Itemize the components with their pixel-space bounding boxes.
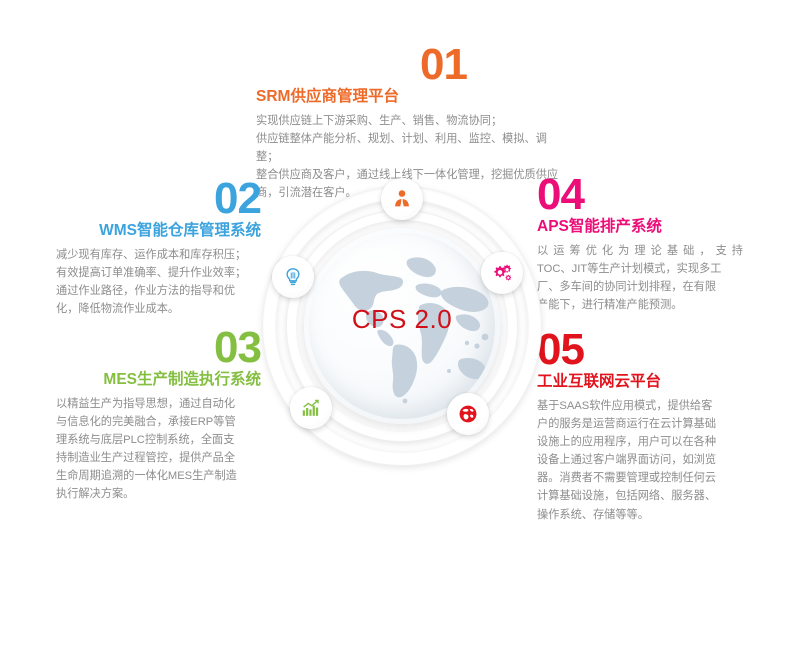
person-icon	[391, 188, 413, 210]
body-line: 设施上的应用程序，用户可以在各种	[537, 433, 743, 451]
body-line: 厂、多车间的协同计划排程，在有限	[537, 278, 743, 296]
icon-bubble-bar-chart[interactable]	[290, 387, 332, 429]
icon-bubble-globe[interactable]	[447, 393, 489, 435]
body-line: 产能下，进行精准产能预测。	[537, 296, 743, 314]
body-line: 与信息化的完美融合，承接ERP等管	[56, 413, 261, 431]
section-body-02: 减少现有库存、运作成本和库存积压； 有效提高订单准确率、提升作业效率； 通过作业…	[56, 246, 261, 319]
body-line: TOC、JIT等生产计划模式，实现多工	[537, 260, 743, 278]
body-line: 执行解决方案。	[56, 485, 261, 503]
body-line: 以运筹优化为理论基础，支持	[537, 242, 743, 260]
section-title-04: APS智能排产系统	[537, 217, 743, 238]
section-04-aps: 04 APS智能排产系统 以运筹优化为理论基础，支持 TOC、JIT等生产计划模…	[537, 174, 743, 314]
section-title-03: MES生产制造执行系统	[56, 370, 261, 391]
body-line: 供应链整体产能分析、规划、计划、利用、监控、模拟、调整；	[256, 130, 562, 166]
gears-icon	[491, 262, 513, 284]
section-number-02: 02	[56, 178, 261, 220]
body-line: 持制造业生产过程管控，提供产品全	[56, 449, 261, 467]
body-line: 通过作业路径，作业方法的指导和优	[56, 282, 261, 300]
section-02-wms: 02 WMS智能仓库管理系统 减少现有库存、运作成本和库存积压； 有效提高订单准…	[56, 178, 261, 318]
icon-bubble-lightbulb[interactable]	[272, 256, 314, 298]
body-line: 户的服务是运营商运行在云计算基础	[537, 415, 743, 433]
infographic-canvas: 01 SRM供应商管理平台 实现供应链上下游采购、生产、销售、物流协同； 供应链…	[0, 0, 800, 654]
globe-icon	[457, 403, 479, 425]
body-line: 减少现有库存、运作成本和库存积压；	[56, 246, 261, 264]
section-number-05: 05	[537, 329, 743, 371]
central-globe-graphic: CPS 2.0	[262, 186, 542, 466]
section-body-04: 以运筹优化为理论基础，支持 TOC、JIT等生产计划模式，实现多工 厂、多车间的…	[537, 242, 743, 315]
section-number-03: 03	[56, 327, 261, 369]
body-line: 基于SAAS软件应用模式，提供给客	[537, 397, 743, 415]
section-03-mes: 03 MES生产制造执行系统 以精益生产为指导思想，通过自动化 与信息化的完美融…	[56, 327, 261, 504]
body-line: 理系统与底层PLC控制系统，全面支	[56, 431, 261, 449]
body-line: 计算基础设施，包括网络、服务器、	[537, 487, 743, 505]
section-title-01: SRM供应商管理平台	[256, 87, 562, 108]
body-line: 操作系统、存储等等。	[537, 506, 743, 524]
body-line: 以精益生产为指导思想，通过自动化	[56, 395, 261, 413]
section-05-cloud: 05 工业互联网云平台 基于SAAS软件应用模式，提供给客 户的服务是运营商运行…	[537, 329, 743, 524]
body-line: 有效提高订单准确率、提升作业效率；	[56, 264, 261, 282]
body-line: 实现供应链上下游采购、生产、销售、物流协同；	[256, 112, 562, 130]
section-number-04: 04	[537, 174, 743, 216]
icon-bubble-person[interactable]	[381, 178, 423, 220]
lightbulb-icon	[282, 266, 304, 288]
body-line: 生命周期追溯的一体化MES生产制造	[56, 467, 261, 485]
body-line: 设备上通过客户端界面访问，如浏览	[537, 451, 743, 469]
section-title-02: WMS智能仓库管理系统	[56, 221, 261, 242]
section-body-05: 基于SAAS软件应用模式，提供给客 户的服务是运营商运行在云计算基础 设施上的应…	[537, 397, 743, 524]
body-line: 化，降低物流作业成本。	[56, 300, 261, 318]
section-number-01: 01	[420, 44, 562, 86]
section-body-03: 以精益生产为指导思想，通过自动化 与信息化的完美融合，承接ERP等管 理系统与底…	[56, 395, 261, 504]
icon-bubble-gears[interactable]	[481, 252, 523, 294]
bar-chart-icon	[300, 397, 322, 419]
center-label-cps: CPS 2.0	[262, 304, 542, 335]
body-line: 器。消费者不需要管理或控制任何云	[537, 469, 743, 487]
section-title-05: 工业互联网云平台	[537, 372, 743, 393]
